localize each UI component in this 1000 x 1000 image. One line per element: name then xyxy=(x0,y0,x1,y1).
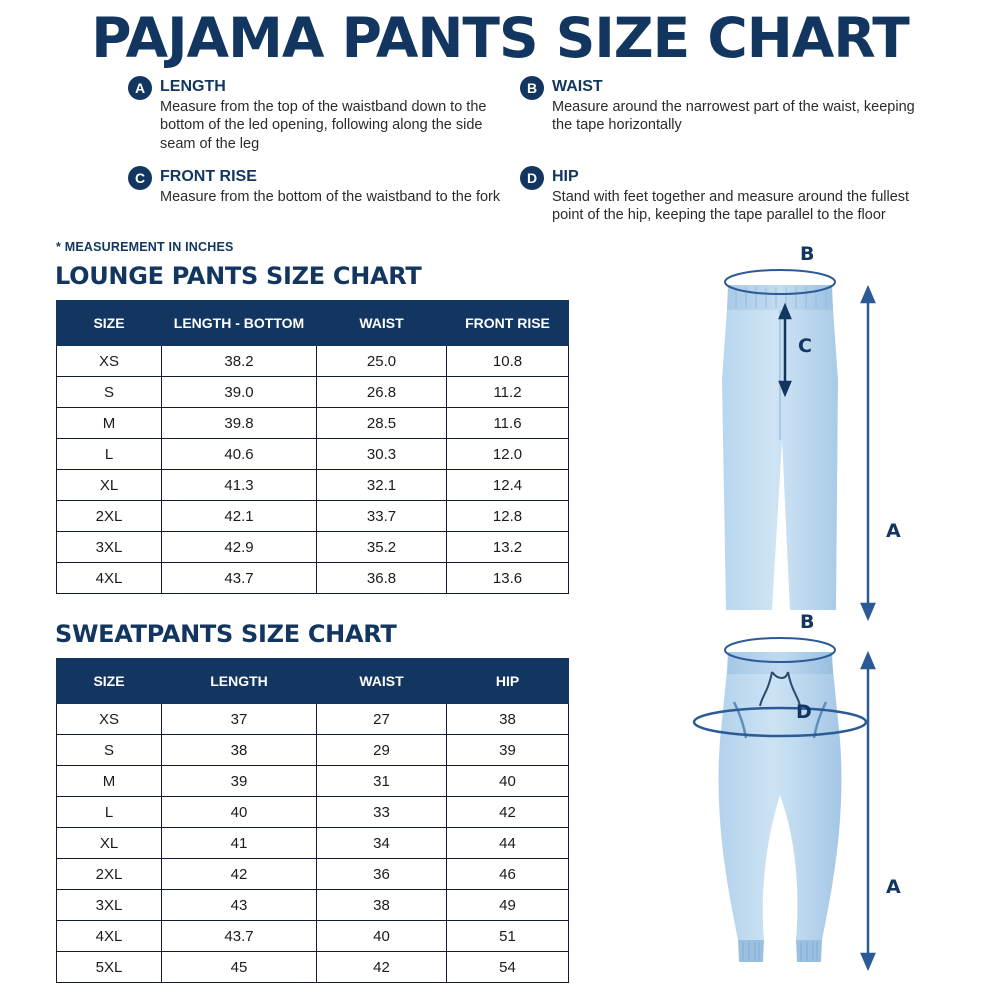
cell-front-rise: 12.0 xyxy=(447,439,569,470)
cell-waist: 34 xyxy=(317,828,447,859)
cell-size: M xyxy=(57,766,162,797)
table-row: 3XL433849 xyxy=(57,890,569,921)
cell-size: 2XL xyxy=(57,501,162,532)
cell-size: S xyxy=(57,377,162,408)
cuff-right xyxy=(796,940,822,962)
cell-size: XL xyxy=(57,828,162,859)
legend-head-a: LENGTH xyxy=(160,78,226,96)
cuff-left xyxy=(738,940,764,962)
cell-length: 41 xyxy=(162,828,317,859)
table-row: L40.630.312.0 xyxy=(57,439,569,470)
length-arrow xyxy=(862,654,874,968)
cell-hip: 38 xyxy=(447,704,569,735)
cell-waist: 35.2 xyxy=(317,532,447,563)
legend-badge-d: D xyxy=(520,166,544,190)
marker-a-lounge: A xyxy=(886,520,901,542)
legend-body-b: Measure around the narrowest part of the… xyxy=(552,98,920,135)
cell-size: XS xyxy=(57,704,162,735)
cell-waist: 33 xyxy=(317,797,447,828)
marker-a-sweat: A xyxy=(886,876,901,898)
cell-hip: 44 xyxy=(447,828,569,859)
col-header-waist: WAIST xyxy=(317,301,447,346)
table-row: 2XL42.133.712.8 xyxy=(57,501,569,532)
cell-length: 45 xyxy=(162,952,317,983)
col-header-size: SIZE xyxy=(57,659,162,704)
col-header-front-rise: FRONT RISE xyxy=(447,301,569,346)
legend-badge-a: A xyxy=(128,76,152,100)
cell-size: XL xyxy=(57,470,162,501)
table-row: 2XL423646 xyxy=(57,859,569,890)
cell-size: 3XL xyxy=(57,890,162,921)
cell-length: 39.8 xyxy=(162,408,317,439)
cell-length: 38.2 xyxy=(162,346,317,377)
cell-hip: 39 xyxy=(447,735,569,766)
legend-badge-c: C xyxy=(128,166,152,190)
cell-length: 43.7 xyxy=(162,563,317,594)
table-row: 5XL454254 xyxy=(57,952,569,983)
cell-length: 37 xyxy=(162,704,317,735)
cell-waist: 36.8 xyxy=(317,563,447,594)
marker-d-sweat: D xyxy=(796,701,812,723)
cell-length: 42 xyxy=(162,859,317,890)
cell-length: 40 xyxy=(162,797,317,828)
cell-size: M xyxy=(57,408,162,439)
table-row: 4XL43.736.813.6 xyxy=(57,563,569,594)
legend-badge-b: B xyxy=(520,76,544,100)
table-row: XL41.332.112.4 xyxy=(57,470,569,501)
cell-size: 4XL xyxy=(57,921,162,952)
cell-hip: 49 xyxy=(447,890,569,921)
cell-front-rise: 12.4 xyxy=(447,470,569,501)
cell-front-rise: 11.6 xyxy=(447,408,569,439)
cell-hip: 54 xyxy=(447,952,569,983)
col-header-length: LENGTH xyxy=(162,659,317,704)
cell-length: 40.6 xyxy=(162,439,317,470)
marker-c-lounge: C xyxy=(798,335,812,357)
illustration-area: B C A xyxy=(600,240,1000,1000)
page-title: PAJAMA PANTS SIZE CHART xyxy=(0,6,1000,70)
cell-front-rise: 11.2 xyxy=(447,377,569,408)
legend-head-c: FRONT RISE xyxy=(160,168,257,186)
legend-head-d: HIP xyxy=(552,168,579,186)
lounge-pants-illustration: B C A xyxy=(600,240,1000,630)
cell-waist: 25.0 xyxy=(317,346,447,377)
col-header-hip: HIP xyxy=(447,659,569,704)
cell-size: L xyxy=(57,797,162,828)
cell-waist: 30.3 xyxy=(317,439,447,470)
cell-front-rise: 13.6 xyxy=(447,563,569,594)
cell-size: 4XL xyxy=(57,563,162,594)
sweatpants-body xyxy=(719,660,842,940)
marker-b-lounge: B xyxy=(800,243,814,265)
sweatpants-illustration: B D A xyxy=(600,610,1000,1000)
cell-waist: 32.1 xyxy=(317,470,447,501)
cell-size: 3XL xyxy=(57,532,162,563)
cell-front-rise: 12.8 xyxy=(447,501,569,532)
cell-waist: 31 xyxy=(317,766,447,797)
lounge-waistband xyxy=(727,285,833,310)
cell-length: 39.0 xyxy=(162,377,317,408)
measurement-note: * MEASUREMENT IN INCHES xyxy=(56,240,234,254)
cell-size: 5XL xyxy=(57,952,162,983)
sweatpants-size-table: SIZE LENGTH WAIST HIP XS372738 S382939 M… xyxy=(56,658,569,983)
cell-size: S xyxy=(57,735,162,766)
section-title-sweatpants: SWEATPANTS SIZE CHART xyxy=(55,620,396,648)
table-row: XS38.225.010.8 xyxy=(57,346,569,377)
section-title-lounge: LOUNGE PANTS SIZE CHART xyxy=(55,262,421,290)
cell-front-rise: 10.8 xyxy=(447,346,569,377)
cell-waist: 40 xyxy=(317,921,447,952)
legend-body-a: Measure from the top of the waistband do… xyxy=(160,98,518,153)
cell-length: 39 xyxy=(162,766,317,797)
cell-size: L xyxy=(57,439,162,470)
legend-body-c: Measure from the bottom of the waistband… xyxy=(160,188,500,206)
table-row: S39.026.811.2 xyxy=(57,377,569,408)
cell-waist: 26.8 xyxy=(317,377,447,408)
cell-hip: 51 xyxy=(447,921,569,952)
cell-waist: 42 xyxy=(317,952,447,983)
lounge-pants-size-table: SIZE LENGTH - BOTTOM WAIST FRONT RISE XS… xyxy=(56,300,569,594)
length-arrow xyxy=(862,288,874,618)
cell-front-rise: 13.2 xyxy=(447,532,569,563)
cell-waist: 28.5 xyxy=(317,408,447,439)
cell-waist: 33.7 xyxy=(317,501,447,532)
cell-length: 43.7 xyxy=(162,921,317,952)
table-header-row: SIZE LENGTH WAIST HIP xyxy=(57,659,569,704)
cell-length: 42.9 xyxy=(162,532,317,563)
cell-length: 41.3 xyxy=(162,470,317,501)
cell-hip: 46 xyxy=(447,859,569,890)
table-row: M39.828.511.6 xyxy=(57,408,569,439)
table-row: 3XL42.935.213.2 xyxy=(57,532,569,563)
table-header-row: SIZE LENGTH - BOTTOM WAIST FRONT RISE xyxy=(57,301,569,346)
cell-size: XS xyxy=(57,346,162,377)
cell-waist: 38 xyxy=(317,890,447,921)
size-chart-page: PAJAMA PANTS SIZE CHART A LENGTH Measure… xyxy=(0,0,1000,1000)
table-row: 4XL43.74051 xyxy=(57,921,569,952)
cell-length: 42.1 xyxy=(162,501,317,532)
cell-length: 43 xyxy=(162,890,317,921)
table-row: XL413444 xyxy=(57,828,569,859)
col-header-waist: WAIST xyxy=(317,659,447,704)
legend-head-b: WAIST xyxy=(552,78,603,96)
cell-hip: 40 xyxy=(447,766,569,797)
cell-waist: 29 xyxy=(317,735,447,766)
table-row: S382939 xyxy=(57,735,569,766)
marker-b-sweat: B xyxy=(800,611,814,633)
cell-waist: 27 xyxy=(317,704,447,735)
col-header-length-bottom: LENGTH - BOTTOM xyxy=(162,301,317,346)
cell-hip: 42 xyxy=(447,797,569,828)
cell-waist: 36 xyxy=(317,859,447,890)
table-row: XS372738 xyxy=(57,704,569,735)
cell-size: 2XL xyxy=(57,859,162,890)
cell-length: 38 xyxy=(162,735,317,766)
table-row: L403342 xyxy=(57,797,569,828)
col-header-size: SIZE xyxy=(57,301,162,346)
legend-body-d: Stand with feet together and measure aro… xyxy=(552,188,920,225)
table-row: M393140 xyxy=(57,766,569,797)
